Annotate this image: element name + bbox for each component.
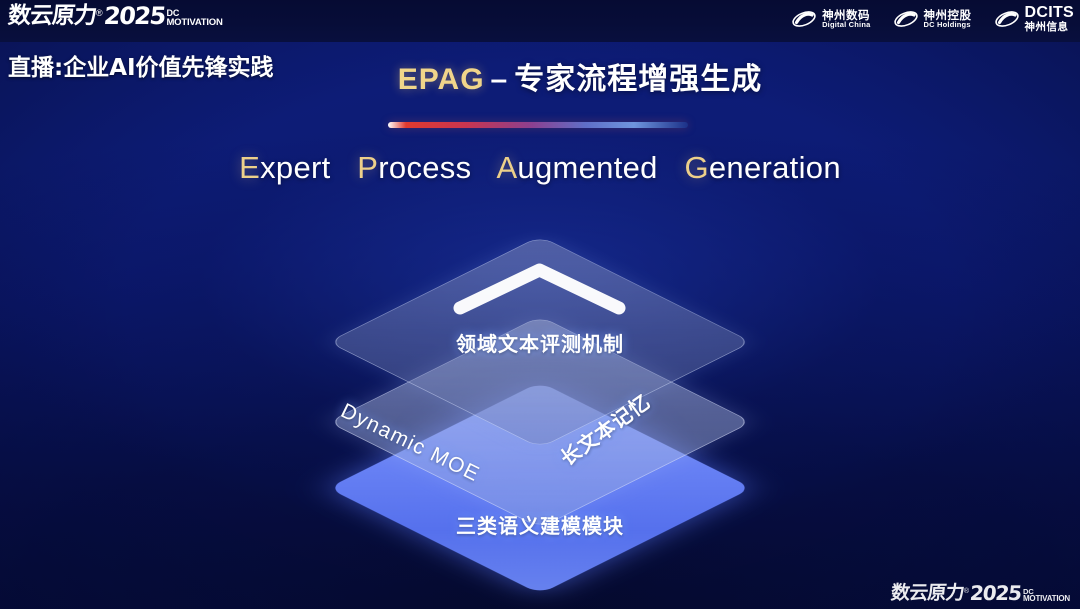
swirl-logo-icon (791, 8, 817, 30)
gradient-divider (388, 122, 688, 128)
layered-architecture-diagram: 领域文本评测机制 Dynamic MOE 长文本记忆 三类语义建模模块 (280, 210, 800, 590)
partner-label: DCITS 神州信息 (1025, 5, 1075, 33)
subtitle-rest: eneration (709, 150, 841, 185)
main-title-chinese: 专家流程增强生成 (514, 62, 762, 97)
brand-logo-cn: 数云原力 (7, 5, 97, 28)
partner-logo-dcits: DCITS 神州信息 (994, 5, 1075, 33)
partner-label-cn: 神州信息 (1025, 22, 1075, 33)
live-stream-title: 直播:企业AI价值先锋实践 (8, 48, 274, 82)
subtitle-cap: G (684, 150, 708, 185)
subtitle-cap: E (239, 150, 260, 185)
swirl-logo-icon (994, 8, 1020, 30)
watermark-dc: DC MOTIVATION (1023, 588, 1070, 604)
swirl-logo-icon (893, 8, 919, 30)
brand-logo-dc: DC MOTIVATION (166, 9, 222, 28)
subtitle-word-generation: Generation (684, 150, 840, 185)
partner-logo-dc-holdings: 神州控股 DC Holdings (893, 8, 972, 30)
brand-logo: 数云原力 ® 2025 DC MOTIVATION (8, 4, 223, 28)
partner-label-en: DC Holdings (924, 21, 972, 29)
subtitle-word-process: Process (357, 150, 471, 185)
main-title-dash: – (491, 63, 509, 96)
footer-watermark-logo: 数云原力 ® 2025 DC MOTIVATION (891, 583, 1070, 603)
subtitle-cap: A (496, 150, 517, 185)
partner-logo-digital-china: 神州数码 Digital China (791, 8, 870, 30)
partner-label-en: Digital China (822, 21, 870, 29)
subtitle-rest: rocess (378, 150, 471, 185)
watermark-year: 2025 (969, 583, 1022, 603)
partner-label: 神州数码 Digital China (822, 9, 870, 29)
subtitle-rest: xpert (260, 150, 330, 185)
english-subtitle: Expert Process Augmented Generation (0, 150, 1080, 186)
subtitle-cap: P (357, 150, 378, 185)
brand-logo-dc-line2: MOTIVATION (166, 18, 222, 28)
watermark-cn: 数云原力 (890, 584, 965, 603)
partner-label-en: DCITS (1025, 5, 1075, 22)
subtitle-rest: ugmented (517, 150, 657, 185)
brand-logo-registered: ® (96, 9, 103, 18)
watermark-registered: ® (964, 588, 969, 595)
diagram-label-bottom: 三类语义建模模块 (280, 510, 800, 539)
slide-canvas: 数云原力 ® 2025 DC MOTIVATION 直播:企业AI价值先锋实践 … (0, 0, 1080, 609)
brand-logo-year: 2025 (102, 4, 165, 28)
partner-label: 神州控股 DC Holdings (924, 9, 972, 29)
subtitle-word-expert: Expert (239, 150, 330, 185)
partner-logo-group: 神州数码 Digital China 神州控股 DC Holdings (791, 5, 1074, 33)
main-title-acronym: EPAG (398, 63, 485, 96)
watermark-dc-line2: MOTIVATION (1023, 595, 1070, 603)
subtitle-word-augmented: Augmented (496, 150, 657, 185)
chevron-up-icon (452, 258, 627, 320)
diagram-label-top: 领域文本评测机制 (280, 328, 800, 357)
